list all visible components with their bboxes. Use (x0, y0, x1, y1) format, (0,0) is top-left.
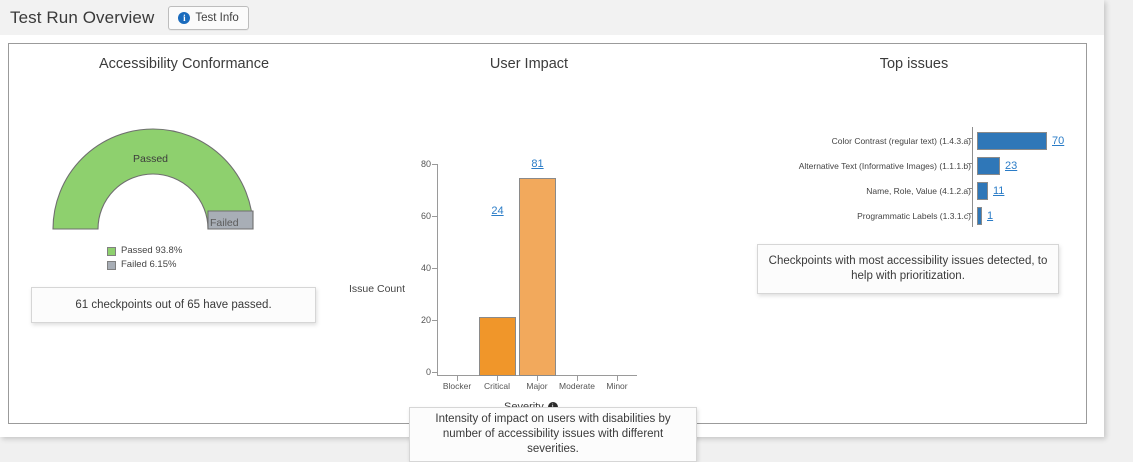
top-issue-row-4: Programmatic Labels (1.3.1.c) 1 (977, 204, 993, 228)
app-page: Test Run Overview i Test Info Accessibil… (0, 0, 1104, 437)
y-tickmark-60 (432, 216, 437, 217)
info-circle-icon: i (178, 12, 190, 24)
top-issue-label-4: Programmatic Labels (1.3.1.c) (857, 211, 977, 221)
bar-label-major[interactable]: 81 (519, 158, 556, 170)
top-issues-callout: Checkpoints with most accessibility issu… (757, 244, 1059, 294)
bar-major[interactable] (519, 178, 556, 376)
legend-swatch-failed (107, 261, 116, 270)
top-issue-label-1: Color Contrast (regular text) (1.4.3.a) (832, 136, 977, 146)
top-issue-value-4[interactable]: 1 (987, 210, 993, 222)
top-tickmark-2 (967, 163, 972, 164)
top-issue-label-3: Name, Role, Value (4.1.2.a) (866, 186, 977, 196)
legend-item-passed[interactable]: Passed 93.8% (107, 244, 182, 258)
y-tickmark-80 (432, 164, 437, 165)
page-title: Test Run Overview (10, 8, 154, 28)
conformance-legend: Passed 93.8% Failed 6.15% (107, 244, 182, 272)
top-issue-row-3: Name, Role, Value (4.1.2.a) 11 (977, 179, 1004, 203)
bar-label-critical[interactable]: 24 (479, 205, 516, 217)
top-tickmark-4 (967, 213, 972, 214)
top-issues-chart-title: Top issues (754, 56, 1074, 72)
y-tickmark-0 (432, 372, 437, 373)
top-issues-bar-chart: Color Contrast (regular text) (1.4.3.a) … (754, 89, 1074, 254)
top-issue-row-1: Color Contrast (regular text) (1.4.3.a) … (977, 129, 1064, 153)
x-label-minor: Minor (594, 381, 640, 391)
gauge-svg: Passed Failed (25, 89, 343, 249)
conformance-chart-title: Accessibility Conformance (25, 56, 343, 72)
y-tick-60: 60 (409, 211, 431, 221)
test-info-label: Test Info (195, 12, 238, 24)
top-issue-bar-1[interactable] (977, 132, 1047, 150)
y-tick-40: 40 (409, 263, 431, 273)
top-issue-row-2: Alternative Text (Informative Images) (1… (977, 154, 1017, 178)
top-issue-value-1[interactable]: 70 (1052, 135, 1064, 147)
impact-chart-title: User Impact (354, 56, 704, 72)
conformance-callout: 61 checkpoints out of 65 have passed. (31, 287, 316, 323)
top-issue-label-2: Alternative Text (Informative Images) (1… (799, 161, 977, 171)
top-issue-value-3[interactable]: 11 (993, 185, 1004, 197)
test-info-button[interactable]: i Test Info (168, 6, 248, 30)
legend-label-failed: Failed 6.15% (121, 258, 176, 272)
gauge-passed-text: Passed (133, 153, 168, 165)
conformance-gauge-chart: Passed Failed (25, 89, 343, 249)
y-tick-0: 0 (409, 367, 431, 377)
impact-y-axis-label: Issue Count (349, 283, 405, 295)
page-header: Test Run Overview i Test Info (0, 0, 1104, 35)
top-tickmark-3 (967, 188, 972, 189)
user-impact-bar-chart: Issue Count 80 60 40 20 0 (349, 89, 709, 369)
legend-swatch-passed (107, 247, 116, 256)
legend-label-passed: Passed 93.8% (121, 244, 182, 258)
top-issue-bar-3[interactable] (977, 182, 988, 200)
y-tick-80: 80 (409, 159, 431, 169)
top-issue-bar-2[interactable] (977, 157, 1000, 175)
legend-item-failed[interactable]: Failed 6.15% (107, 258, 182, 272)
y-axis-line (437, 164, 438, 376)
impact-plot-area: 24 81 (437, 164, 637, 376)
y-tick-20: 20 (409, 315, 431, 325)
y-tickmark-40 (432, 268, 437, 269)
top-issue-value-2[interactable]: 23 (1005, 160, 1017, 172)
impact-callout: Intensity of impact on users with disabi… (409, 407, 697, 462)
gauge-failed-text: Failed (210, 217, 239, 229)
bar-critical[interactable] (479, 317, 516, 376)
overview-panel: Accessibility Conformance User Impact To… (8, 43, 1087, 424)
y-tickmark-20 (432, 320, 437, 321)
top-tickmark-1 (967, 138, 972, 139)
top-issue-bar-4[interactable] (977, 207, 982, 225)
